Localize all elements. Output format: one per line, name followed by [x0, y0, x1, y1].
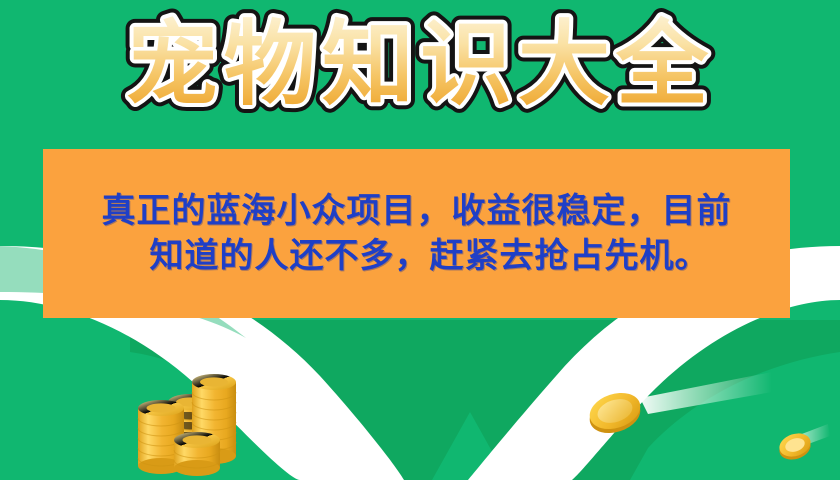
- callout-line-1: 真正的蓝海小众项目，收益很稳定，目前: [102, 189, 732, 234]
- coin-stack-front: [174, 432, 220, 476]
- callout-line-2: 知道的人还不多，赶紧去抢占先机。: [124, 234, 710, 279]
- callout-box: 真正的蓝海小众项目，收益很稳定，目前 知道的人还不多，赶紧去抢占先机。: [43, 149, 790, 318]
- poster-canvas: 宠物知识大全 宠物知识大全 宠物知识大全 真正的蓝海小众项目，收益很稳定，目前 …: [0, 0, 840, 480]
- flying-gold-coin-small-icon: [776, 430, 814, 460]
- gold-coin-stack-icon: [128, 368, 254, 480]
- flying-gold-coin-icon: [585, 388, 645, 434]
